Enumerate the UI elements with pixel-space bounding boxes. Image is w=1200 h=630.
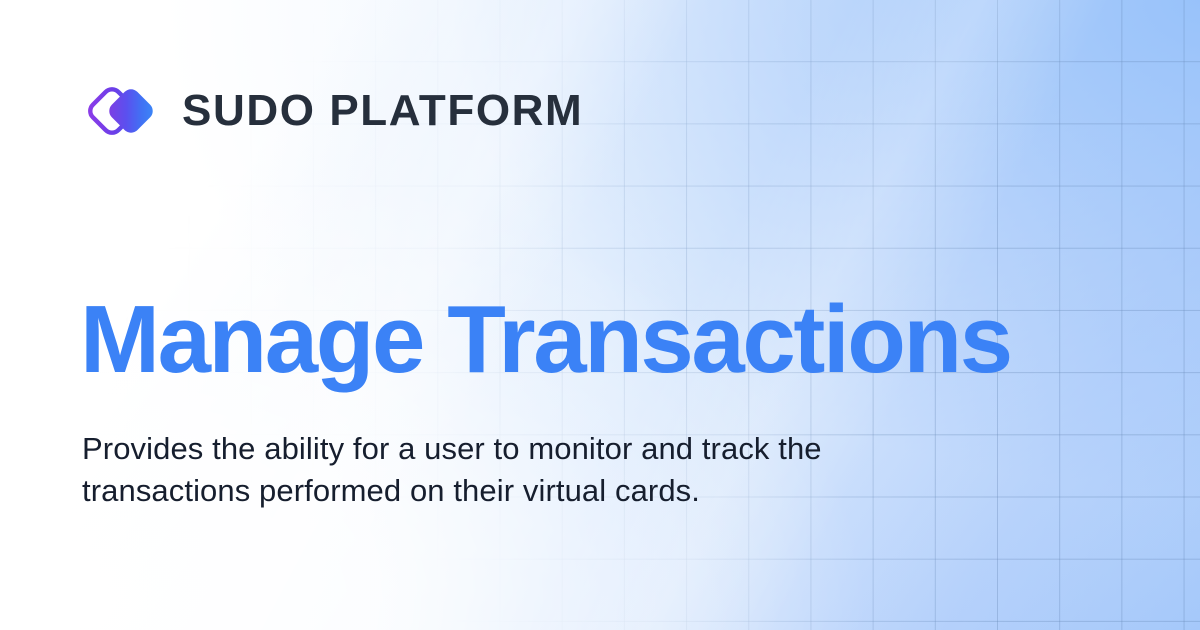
page-description: Provides the ability for a user to monit… — [82, 428, 882, 512]
sudo-diamond-logo-icon — [82, 72, 160, 150]
brand-wordmark: SUDO PLATFORM — [182, 89, 583, 133]
banner-content: SUDO PLATFORM Manage Transactions Provid… — [0, 0, 1200, 630]
brand-logo-lockup: SUDO PLATFORM — [82, 72, 583, 150]
marketing-banner: SUDO PLATFORM Manage Transactions Provid… — [0, 0, 1200, 630]
page-title: Manage Transactions — [80, 292, 1011, 388]
